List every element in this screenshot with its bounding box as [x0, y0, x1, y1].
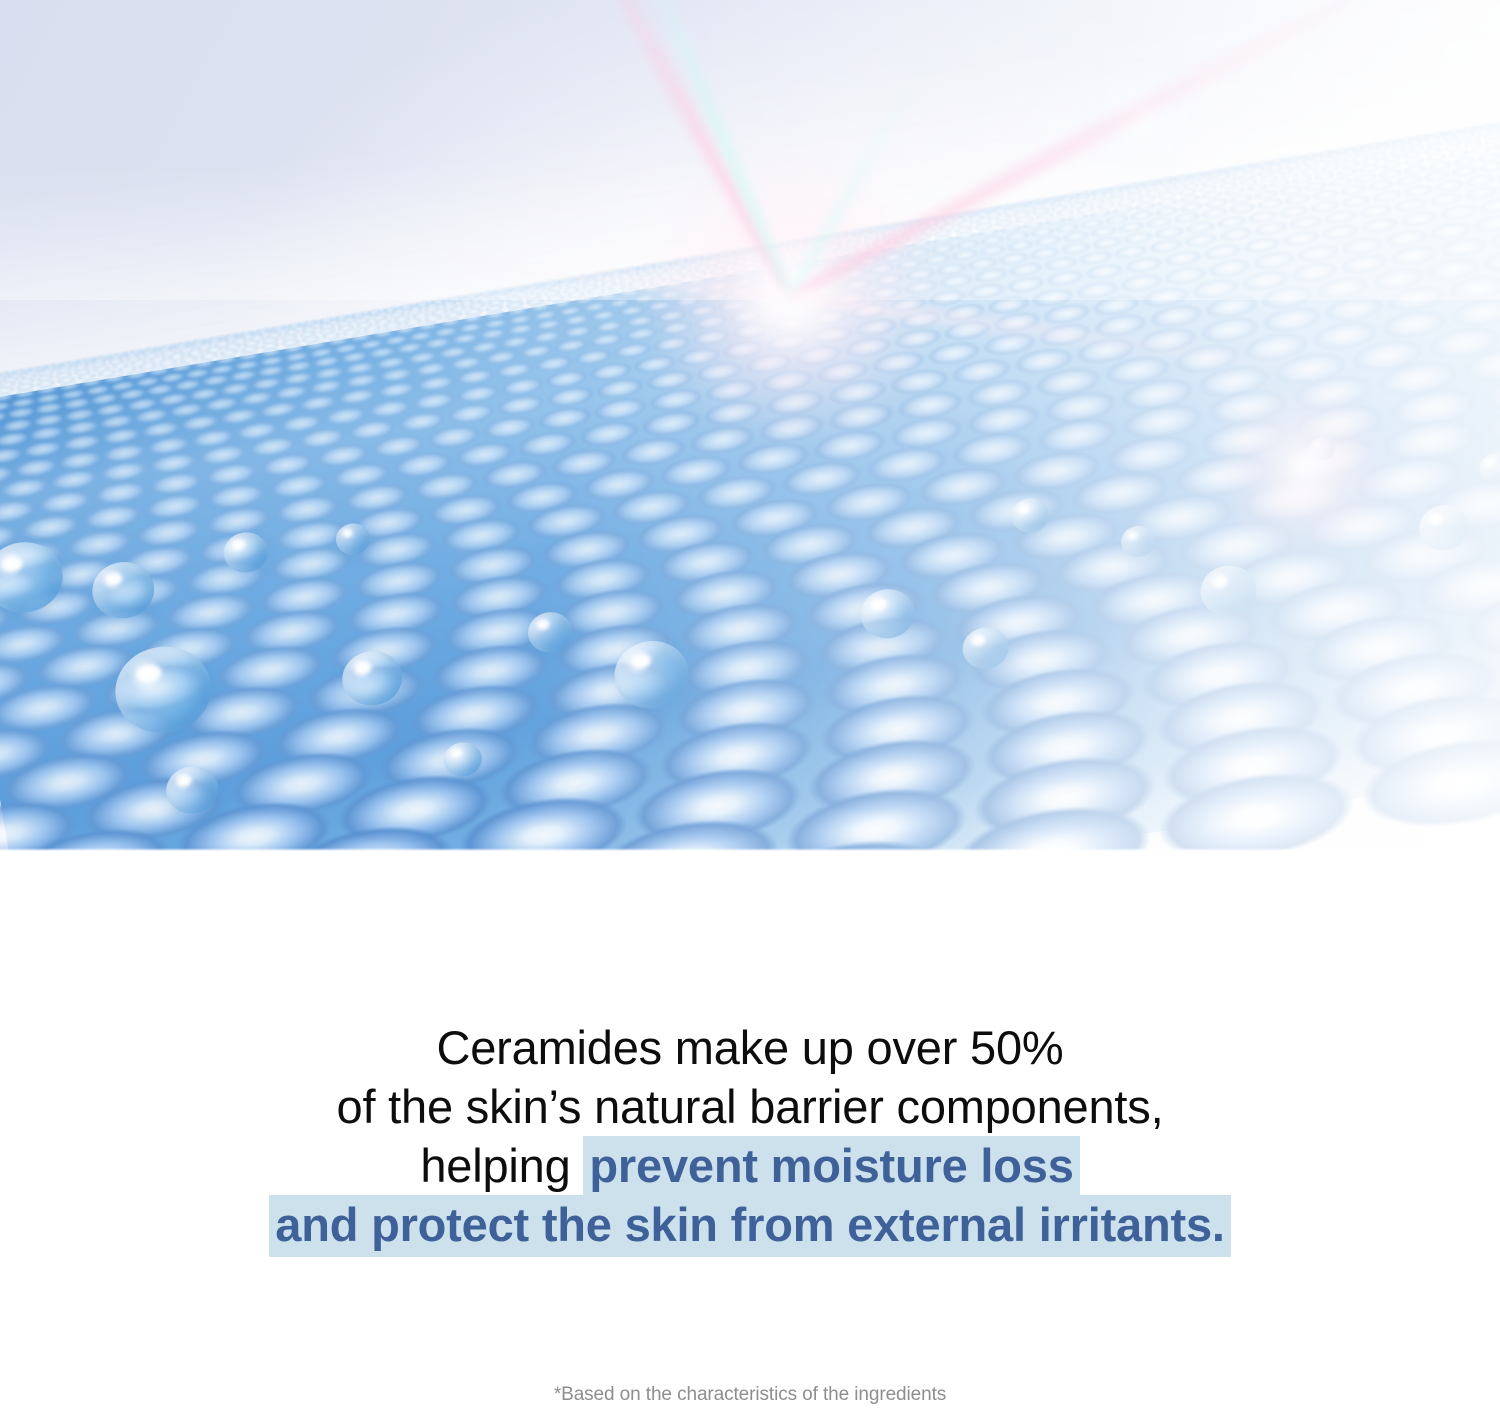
claim-line: Ceramides make up over 50%: [0, 1018, 1500, 1077]
claim-plain: of the skin’s natural barrier components…: [337, 1080, 1164, 1133]
claim-text-block: Ceramides make up over 50%of the skin’s …: [0, 1018, 1500, 1254]
claim-plain: helping: [420, 1139, 583, 1192]
claim-line: of the skin’s natural barrier components…: [0, 1077, 1500, 1136]
footnote-disclaimer: *Based on the characteristics of the ing…: [0, 1384, 1500, 1406]
hero-bottom-fade: [0, 848, 1500, 851]
claim-highlight: and protect the skin from external irrit…: [269, 1195, 1231, 1257]
claim-line: helping prevent moisture loss: [0, 1136, 1500, 1195]
claim-plain: Ceramides make up over 50%: [437, 1021, 1064, 1074]
product-claim-page: Ceramides make up over 50%of the skin’s …: [0, 0, 1500, 1425]
claim-line: and protect the skin from external irrit…: [0, 1195, 1500, 1254]
hero-image: [0, 0, 1500, 851]
claim-highlight: prevent moisture loss: [583, 1136, 1079, 1198]
